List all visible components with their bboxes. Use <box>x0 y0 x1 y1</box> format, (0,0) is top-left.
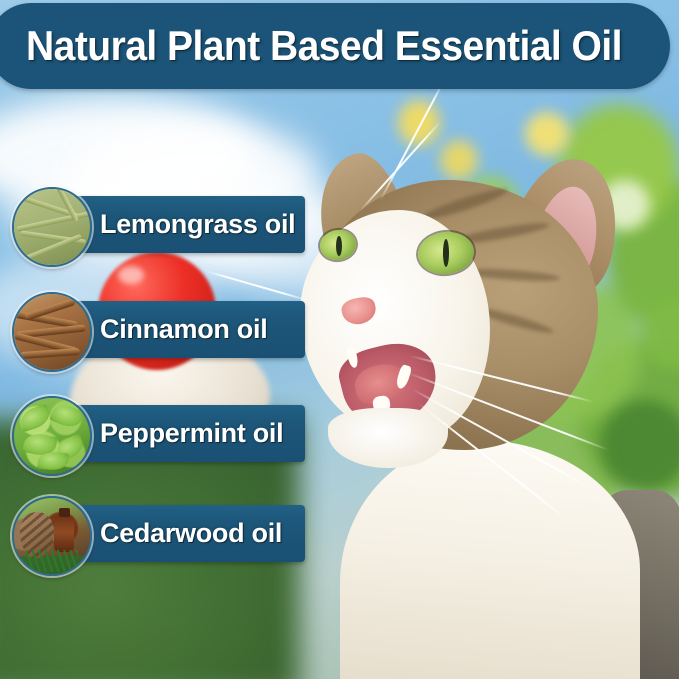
bottle-cap-icon <box>59 508 70 517</box>
pine-needles-icon <box>26 550 78 572</box>
cedarwood-photo <box>14 498 90 574</box>
list-item[interactable]: Lemongrass oil <box>0 182 320 268</box>
ingredient-list: Lemongrass oil Cinnamon oil <box>0 0 679 679</box>
cinnamon-thumbnail-icon <box>12 292 92 372</box>
lemongrass-photo <box>14 189 90 265</box>
lemongrass-thumbnail-icon <box>12 187 92 267</box>
ingredient-label: Cedarwood oil <box>100 518 282 549</box>
cedarwood-thumbnail-icon <box>12 496 92 576</box>
cinnamon-photo <box>14 294 90 370</box>
peppermint-thumbnail-icon <box>12 396 92 476</box>
ingredient-label: Lemongrass oil <box>100 209 295 240</box>
list-item[interactable]: Cinnamon oil <box>0 287 320 373</box>
list-item[interactable]: Cedarwood oil <box>0 491 320 577</box>
ingredient-label: Cinnamon oil <box>100 314 267 345</box>
list-item[interactable]: Peppermint oil <box>0 391 320 477</box>
product-infographic: Natural Plant Based Essential Oil Lemong… <box>0 0 679 679</box>
peppermint-photo <box>14 398 90 474</box>
oil-bottle-icon <box>54 516 74 552</box>
ingredient-label: Peppermint oil <box>100 418 283 449</box>
